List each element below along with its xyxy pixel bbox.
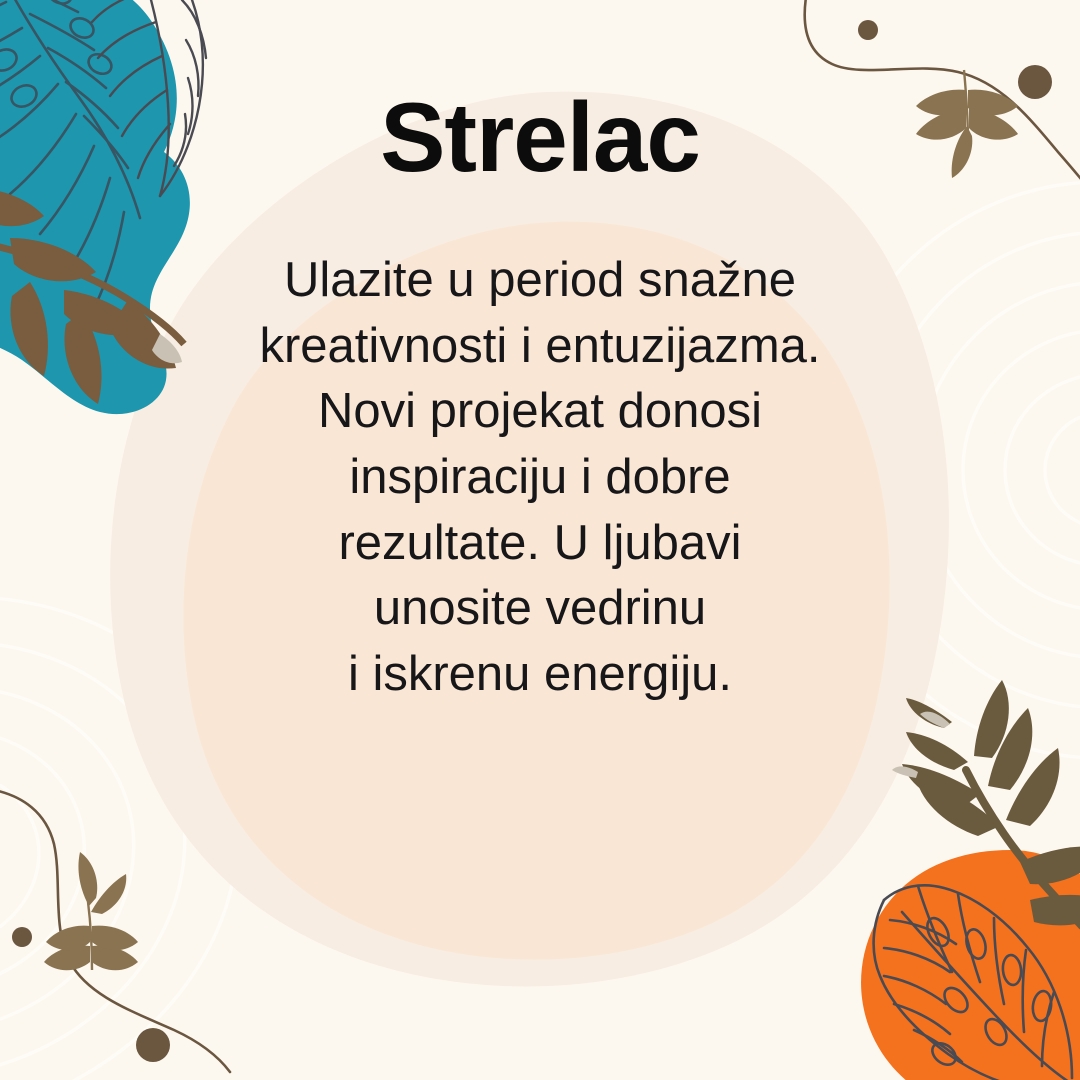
poster-content: Strelac Ulazite u period snažne kreativn… <box>0 0 1080 1080</box>
body-line: rezultate. U ljubavi <box>210 511 870 577</box>
body-line: inspiraciju i dobre <box>210 445 870 511</box>
body-line: unosite vedrinu <box>210 576 870 642</box>
horoscope-body-text: Ulazite u period snažne kreativnosti i e… <box>210 248 870 708</box>
body-line: kreativnosti i entuzijazma. <box>210 314 870 380</box>
body-line: Novi projekat donosi <box>210 379 870 445</box>
page-title: Strelac <box>380 88 700 186</box>
body-line: Ulazite u period snažne <box>210 248 870 314</box>
body-line: i iskrenu energiju. <box>210 642 870 708</box>
poster-canvas: Strelac Ulazite u period snažne kreativn… <box>0 0 1080 1080</box>
